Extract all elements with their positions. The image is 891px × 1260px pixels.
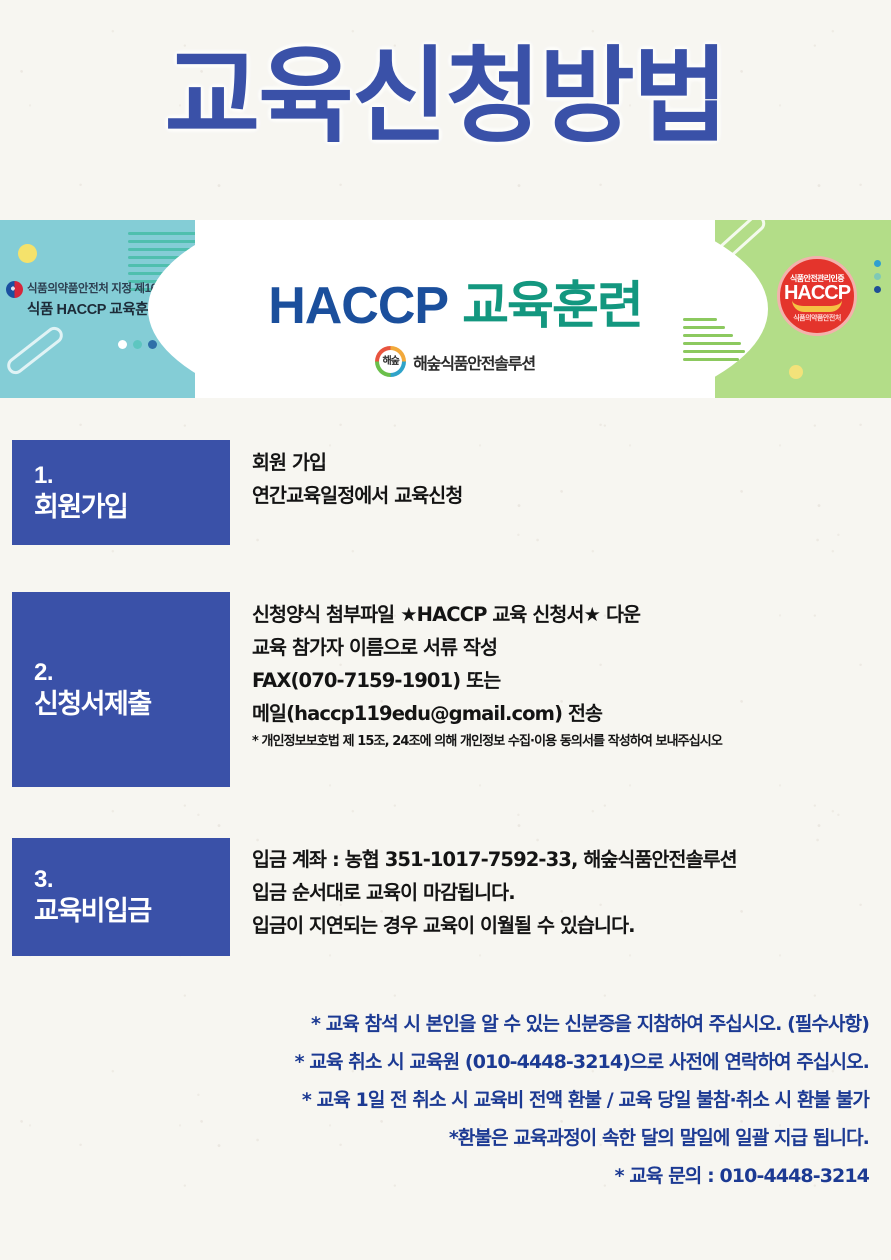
step-1-name: 회원가입 [34, 491, 230, 525]
footer-notes: * 교육 참석 시 본인을 알 수 있는 신분증을 지참하여 주십시오. (필수… [0, 1005, 869, 1195]
step-2-label-box[interactable]: 2. 신청서제출 [12, 592, 230, 787]
haccp-training-banner: 식품의약품안전처 지정 제16호 식품 HACCP 교육훈련 기관 HACCP교… [0, 220, 891, 398]
footer-note-4: *환불은 교육과정이 속한 달의 말일에 일괄 지급 됩니다. [0, 1119, 869, 1157]
korea-government-emblem-icon [6, 281, 23, 298]
dot-trio-2 [133, 340, 142, 349]
seal-arc-decoration [792, 300, 842, 312]
banner-headline-en: HACCP [268, 277, 448, 335]
step-1-number: 1. [34, 461, 230, 491]
footer-contact: * 교육 문의 : 010-4448-3214 [0, 1157, 869, 1195]
banner-headline-kr: 교육훈련 [462, 277, 642, 336]
footer-note-1: * 교육 참석 시 본인을 알 수 있는 신분증을 지참하여 주십시오. (필수… [0, 1005, 869, 1043]
seal-bottom-text: 식품의약품안전처 [793, 313, 841, 323]
ring-decoration-right [704, 264, 723, 283]
step-2-number: 2. [34, 658, 230, 688]
yellow-dot-decoration [18, 244, 37, 263]
dot-trio-3 [148, 340, 157, 349]
brand-logo-row: 해숲 해숲식품안전솔루션 [195, 346, 715, 377]
haesup-logo-text: 해숲 [382, 357, 398, 367]
step-3-name: 교육비입금 [34, 895, 230, 929]
yellow-dot-decoration-right [789, 365, 803, 379]
banner-headline: HACCP교육훈련 [195, 264, 715, 338]
blue-dot-right-2 [874, 273, 881, 280]
step-1-label-box[interactable]: 1. 회원가입 [12, 440, 230, 545]
step-3-number: 3. [34, 865, 230, 895]
dot-trio-1 [118, 340, 127, 349]
brand-name: 해숲식품안전솔루션 [413, 350, 535, 374]
page-title: 교육신청방법 [0, 38, 891, 154]
footer-note-2: * 교육 취소 시 교육원 (010-4448-3214)으로 사전에 연락하여… [0, 1043, 869, 1081]
page-title-container: 교육신청방법 [0, 38, 891, 154]
step-3-label-box[interactable]: 3. 교육비입금 [12, 838, 230, 956]
poster-stage: 교육신청방법 식품의약품안전처 지정 제16호 식품 HACCP 교육훈련 기관… [0, 0, 891, 1260]
haccp-certification-seal-icon: 식품안전관리인증 HACCP 식품의약품안전처 [777, 256, 857, 336]
haesup-logo-icon: 해숲 [375, 346, 406, 377]
blue-dot-right-3 [874, 286, 881, 293]
step-2-name: 신청서제출 [34, 688, 230, 722]
blue-dot-right-1 [874, 260, 881, 267]
footer-note-3: * 교육 1일 전 취소 시 교육비 전액 환불 / 교육 당일 불참·취소 시… [0, 1081, 869, 1119]
